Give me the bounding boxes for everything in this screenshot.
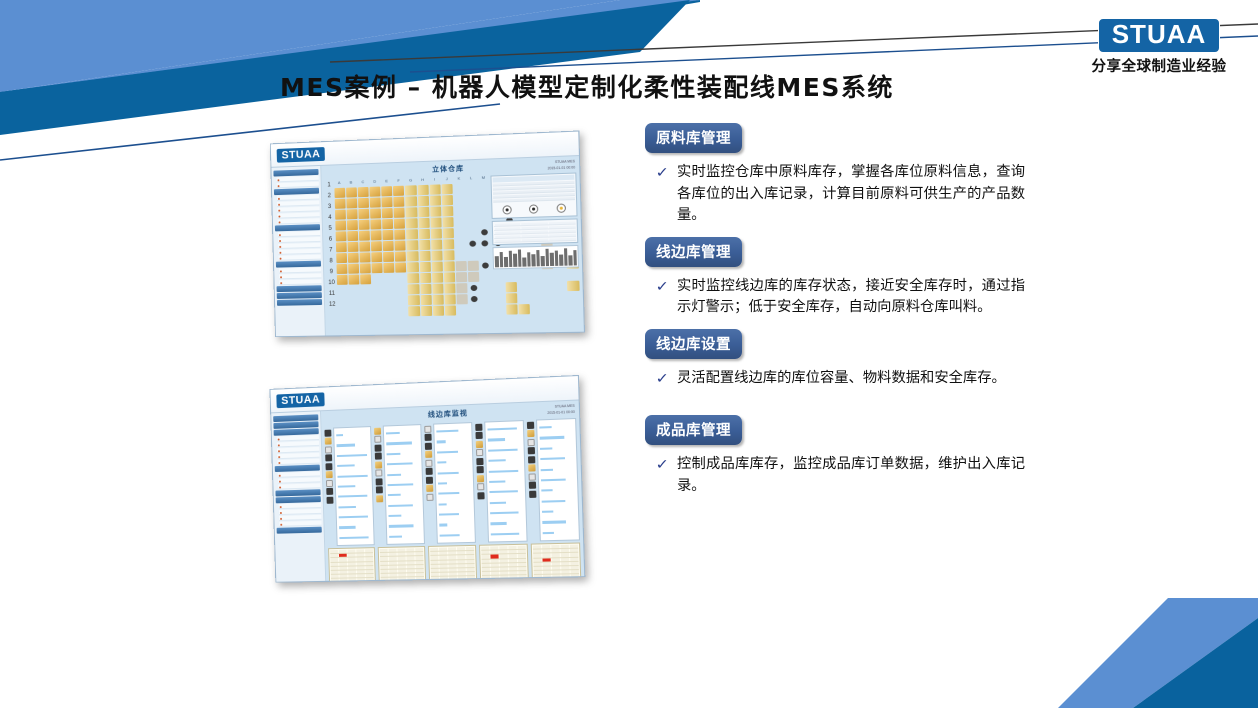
stock-bar-chart <box>433 422 476 544</box>
grid-cell[interactable] <box>382 197 393 207</box>
material-icon <box>376 495 383 502</box>
material-icon <box>475 423 482 430</box>
app-logo: STUAA <box>276 392 325 408</box>
grid-cell[interactable] <box>456 260 467 270</box>
grid-cell[interactable] <box>361 296 372 306</box>
material-icon <box>528 447 535 454</box>
check-icon: ✓ <box>656 276 679 319</box>
screenshot-line-side-warehouse: STUAA STUAA MES2015-01-01 00:00 <box>268 382 580 580</box>
bullet-row: ✓ 实时监控仓库中原料库存，掌握各库位原料信息，查询各库位的出入库记录，计算目前… <box>645 162 1025 227</box>
stock-table[interactable] <box>531 542 582 582</box>
material-icon <box>424 425 431 432</box>
line-side-column[interactable] <box>424 422 477 583</box>
line-side-columns[interactable] <box>324 416 581 583</box>
grid-cell[interactable] <box>433 305 444 315</box>
grid-cell[interactable] <box>347 252 358 262</box>
check-icon: ✓ <box>656 162 679 227</box>
grid-cell[interactable] <box>442 206 453 216</box>
grid-cell[interactable] <box>382 229 393 239</box>
grid-cell[interactable] <box>419 261 430 271</box>
section-badge-line-side-setup: 线边库设置 <box>645 329 742 359</box>
material-icon <box>425 442 432 449</box>
grid-cell[interactable] <box>369 186 380 196</box>
grid-cell[interactable] <box>457 294 468 304</box>
grid-cell[interactable] <box>346 209 357 219</box>
grid-cell[interactable] <box>359 241 370 251</box>
grid-cell[interactable] <box>568 303 580 313</box>
material-icon <box>477 483 484 490</box>
grid-cell[interactable] <box>443 228 454 238</box>
material-icon <box>425 451 432 458</box>
material-icon <box>324 429 331 436</box>
grid-cell[interactable] <box>468 260 480 270</box>
material-icon <box>326 479 333 486</box>
material-icon <box>527 438 534 445</box>
grid-cell[interactable] <box>373 306 384 316</box>
grid-cell[interactable] <box>418 217 429 227</box>
grid-cell[interactable] <box>454 183 465 193</box>
grid-cell[interactable] <box>395 262 406 272</box>
grid-cell[interactable] <box>406 207 417 217</box>
grid-row-label: 7 <box>326 245 335 256</box>
logo-badge: STUAA <box>1098 18 1221 53</box>
grid-cell[interactable] <box>469 304 481 314</box>
grid-cell[interactable] <box>468 249 479 259</box>
warehouse-grid-panel: STUAA MES2015-01-01 00:00 立体仓库 123456789… <box>321 156 584 335</box>
section-raw-material: 原料库管理 ✓ 实时监控仓库中原料库存，掌握各库位原料信息，查询各库位的出入库记… <box>645 123 1025 227</box>
material-icon <box>426 476 433 483</box>
grid-cell[interactable] <box>431 239 442 249</box>
grid-cell[interactable] <box>430 206 441 216</box>
material-icon <box>374 427 381 434</box>
stock-bar-chart <box>536 418 580 541</box>
app-logo: STUAA <box>277 147 326 163</box>
grid-cell[interactable] <box>372 284 383 294</box>
grid-cell[interactable] <box>466 183 477 193</box>
material-icon <box>325 438 332 445</box>
grid-cell[interactable] <box>359 252 370 262</box>
grid-cell[interactable] <box>385 306 396 316</box>
grid-cell[interactable] <box>405 196 416 206</box>
material-icon <box>375 461 382 468</box>
grid-cell[interactable] <box>482 240 489 246</box>
material-icon <box>325 454 332 461</box>
material-icon <box>376 478 383 485</box>
grid-row-label: 1 <box>325 180 334 191</box>
table-row[interactable] <box>534 574 579 579</box>
grid-cell[interactable] <box>419 250 430 260</box>
grid-column-header: A <box>333 180 345 187</box>
grid-cell[interactable] <box>567 280 579 290</box>
grid-cell[interactable] <box>518 292 530 302</box>
grid-cell[interactable] <box>335 242 346 252</box>
grid-cell[interactable] <box>371 263 382 273</box>
material-icon <box>376 486 383 493</box>
grid-cell[interactable] <box>371 252 382 262</box>
grid-cell[interactable] <box>360 263 371 273</box>
grid-cell[interactable] <box>371 241 382 251</box>
grid-cell[interactable] <box>347 230 358 240</box>
grid-cell[interactable] <box>531 303 543 313</box>
grid-cell[interactable] <box>493 282 505 292</box>
screenshot-raw-material-warehouse: STUAA STUAA MES2015-01-01 00:00 <box>268 137 580 335</box>
grid-cell[interactable] <box>348 285 359 295</box>
grid-cell[interactable] <box>348 274 359 284</box>
grid-cell[interactable] <box>395 240 406 250</box>
app-sidebar[interactable] <box>271 166 325 336</box>
grid-cell[interactable] <box>361 307 372 317</box>
grid-cell[interactable] <box>346 187 357 197</box>
grid-cell[interactable] <box>555 269 567 279</box>
grid-cell[interactable] <box>358 208 369 218</box>
grid-cell[interactable] <box>371 230 382 240</box>
grid-cell[interactable] <box>370 219 381 229</box>
grid-cell[interactable] <box>430 217 441 227</box>
grid-cell[interactable] <box>457 305 468 315</box>
line-side-column[interactable] <box>374 424 426 583</box>
grid-cell[interactable] <box>418 206 429 216</box>
bullet-text: 灵活配置线边库的库位容量、物料数据和安全库存。 <box>677 368 1006 390</box>
check-icon: ✓ <box>656 454 679 497</box>
records-table <box>492 218 579 245</box>
grid-cell[interactable] <box>456 272 467 282</box>
grid-cell[interactable] <box>394 196 405 206</box>
material-icon <box>425 434 432 441</box>
grid-cell[interactable] <box>530 292 542 302</box>
grid-cell[interactable] <box>468 271 480 281</box>
grid-cell[interactable] <box>481 229 488 235</box>
grid-cell[interactable] <box>347 241 358 251</box>
grid-cell[interactable] <box>396 284 407 294</box>
grid-cell[interactable] <box>543 292 555 302</box>
grid-cell[interactable] <box>466 194 477 204</box>
grid-column-header: F <box>393 178 405 185</box>
grid-cell[interactable] <box>568 291 580 301</box>
grid-cell[interactable] <box>408 295 419 305</box>
material-icon <box>326 471 333 478</box>
grid-cell[interactable] <box>444 294 455 304</box>
table-row[interactable] <box>482 575 527 580</box>
material-icon <box>527 421 534 428</box>
grid-cell[interactable] <box>471 284 478 290</box>
grid-cell[interactable] <box>481 293 493 303</box>
material-icon <box>528 456 535 463</box>
grid-cell[interactable] <box>360 285 371 295</box>
screen-watermark: STUAA MES2015-01-01 00:00 <box>547 158 575 171</box>
grid-cell[interactable] <box>493 293 505 303</box>
bullet-row: ✓ 灵活配置线边库的库位容量、物料数据和安全库存。 <box>645 368 1025 390</box>
grid-cell[interactable] <box>442 217 453 227</box>
grid-cell[interactable] <box>337 307 348 317</box>
grid-cell[interactable] <box>408 273 419 283</box>
grid-cell[interactable] <box>480 271 492 281</box>
grid-row-label: 2 <box>325 191 334 202</box>
grid-cell[interactable] <box>454 205 465 215</box>
table-row[interactable] <box>381 582 425 583</box>
grid-column-header: K <box>453 175 465 182</box>
grid-cell[interactable] <box>337 296 348 306</box>
grid-cell[interactable] <box>471 295 478 301</box>
grid-cell[interactable] <box>393 185 404 195</box>
info-panel <box>490 172 577 218</box>
table-row[interactable] <box>431 576 475 581</box>
grid-cell[interactable] <box>445 305 456 315</box>
grid-row-label: 12 <box>328 300 337 311</box>
grid-cell[interactable] <box>456 283 467 293</box>
stock-bar-chart <box>383 424 425 545</box>
bullet-row: ✓ 控制成品库库存，监控成品库订单数据，维护出入库记录。 <box>645 454 1025 497</box>
grid-cell[interactable] <box>384 284 395 294</box>
grid-cell[interactable] <box>372 295 383 305</box>
grid-cell[interactable] <box>454 194 465 204</box>
grid-cell[interactable] <box>407 262 418 272</box>
stock-table[interactable] <box>479 544 529 583</box>
grid-cell[interactable] <box>455 238 466 248</box>
grid-cell[interactable] <box>444 283 455 293</box>
grid-cell[interactable] <box>421 305 432 315</box>
grid-cell[interactable] <box>382 207 393 217</box>
grid-cell[interactable] <box>370 208 381 218</box>
line-side-column[interactable] <box>324 426 376 583</box>
grid-cell[interactable] <box>347 220 358 230</box>
grid-cell[interactable] <box>383 262 394 272</box>
grid-cell[interactable] <box>505 270 517 280</box>
grid-cell[interactable] <box>383 251 394 261</box>
grid-cell[interactable] <box>420 294 431 304</box>
grid-cell[interactable] <box>467 216 478 226</box>
section-badge-raw-material: 原料库管理 <box>645 123 742 153</box>
grid-cell[interactable] <box>455 249 466 259</box>
thin-diagonal-lines <box>0 0 1258 340</box>
grid-row-label: 3 <box>325 202 334 213</box>
bullet-text: 实时监控仓库中原料库存，掌握各库位原料信息，查询各库位的出入库记录，计算目前原料… <box>677 162 1025 227</box>
grid-cell[interactable] <box>480 249 492 259</box>
grid-cell[interactable] <box>335 231 346 241</box>
grid-cell[interactable] <box>407 240 418 250</box>
grid-cell[interactable] <box>431 250 442 260</box>
grid-column-header: B <box>345 179 357 186</box>
grid-column-header: G <box>404 177 416 184</box>
screen-watermark: STUAA MES2015-01-01 00:00 <box>547 403 575 416</box>
material-icon <box>425 459 432 466</box>
material-icon <box>426 485 433 492</box>
grid-cell[interactable] <box>482 262 489 268</box>
material-icon <box>477 466 484 473</box>
section-badge-finished-goods: 成品库管理 <box>645 415 742 445</box>
grid-cell[interactable] <box>530 281 542 291</box>
grid-cell[interactable] <box>493 271 505 281</box>
material-icon <box>529 490 536 497</box>
grid-cell[interactable] <box>530 270 542 280</box>
grid-cell[interactable] <box>407 251 418 261</box>
grid-cell[interactable] <box>418 228 429 238</box>
grid-cell[interactable] <box>417 184 428 194</box>
grid-cell[interactable] <box>360 274 371 284</box>
check-icon: ✓ <box>656 368 679 390</box>
table-row[interactable] <box>331 578 374 582</box>
grid-cell[interactable] <box>394 207 405 217</box>
grid-cell[interactable] <box>430 195 441 205</box>
grid-cell[interactable] <box>467 227 478 237</box>
grid-cell[interactable] <box>443 250 454 260</box>
grid-cell[interactable] <box>420 283 431 293</box>
grid-column-header: M <box>477 175 489 182</box>
grid-cell[interactable] <box>370 197 381 207</box>
stock-table[interactable] <box>428 545 477 583</box>
material-icon <box>326 488 333 495</box>
grid-cell[interactable] <box>518 304 530 314</box>
grid-cell[interactable] <box>394 218 405 228</box>
grid-cell[interactable] <box>408 284 419 294</box>
grid-row-label: 4 <box>325 213 334 224</box>
grid-cell[interactable] <box>506 293 518 303</box>
grid-cell[interactable] <box>518 281 530 291</box>
grid-cell[interactable] <box>556 303 568 313</box>
grid-cell[interactable] <box>381 186 392 196</box>
table-row[interactable] <box>381 577 425 582</box>
stock-table[interactable] <box>378 546 427 583</box>
bullet-row: ✓ 实时监控线边库的库存状态，接近安全库存时，通过指示灯警示；低于安全库存，自动… <box>645 276 1025 319</box>
grid-row-label: 10 <box>327 278 336 289</box>
grid-cell[interactable] <box>478 193 490 203</box>
grid-cell[interactable] <box>397 306 408 316</box>
feature-list: 原料库管理 ✓ 实时监控仓库中原料库存，掌握各库位原料信息，查询各库位的出入库记… <box>645 123 1025 503</box>
table-row[interactable] <box>534 579 579 583</box>
grid-cell[interactable] <box>336 253 347 263</box>
grid-cell[interactable] <box>505 282 517 292</box>
grid-cell[interactable] <box>555 292 567 302</box>
app-sidebar[interactable] <box>271 411 326 581</box>
stock-table[interactable] <box>328 547 376 583</box>
grid-cell[interactable] <box>346 198 357 208</box>
grid-row-label: 9 <box>327 267 336 278</box>
section-line-side-setup: 线边库设置 ✓ 灵活配置线边库的库位容量、物料数据和安全库存。 <box>645 329 1025 390</box>
grid-cell[interactable] <box>443 239 454 249</box>
detail-panels <box>490 172 579 269</box>
grid-cell[interactable] <box>396 295 407 305</box>
grid-cell[interactable] <box>442 195 453 205</box>
material-icon <box>477 475 484 482</box>
grid-cell[interactable] <box>358 219 369 229</box>
grid-column-header: D <box>369 179 381 186</box>
grid-cell[interactable] <box>337 285 348 295</box>
page-title: MES案例 – 机器人模型定制化柔性装配线MES系统 <box>280 68 894 104</box>
grid-cell[interactable] <box>494 304 506 314</box>
grid-row-label: 11 <box>327 289 336 300</box>
grid-cell[interactable] <box>506 304 518 314</box>
grid-cell[interactable] <box>395 251 406 261</box>
grid-cell[interactable] <box>470 240 477 246</box>
grid-cell[interactable] <box>396 273 407 283</box>
grid-cell[interactable] <box>383 240 394 250</box>
line-side-panel: STUAA MES2015-01-01 00:00 线边库监视 <box>321 401 584 581</box>
section-finished-goods: 成品库管理 ✓ 控制成品库库存，监控成品库订单数据，维护出入库记录。 <box>645 415 1025 497</box>
grid-cell[interactable] <box>406 218 417 228</box>
grid-cell[interactable] <box>405 185 416 195</box>
grid-row-label: 5 <box>326 224 335 235</box>
grid-cell[interactable] <box>432 294 443 304</box>
grid-cell[interactable] <box>349 307 360 317</box>
grid-cell[interactable] <box>481 282 493 292</box>
grid-cell[interactable] <box>336 263 347 273</box>
bar-chart <box>492 245 579 269</box>
grid-cell[interactable] <box>418 195 429 205</box>
grid-cell[interactable] <box>384 295 395 305</box>
grid-cell[interactable] <box>479 204 491 214</box>
line-side-column[interactable] <box>527 418 582 583</box>
grid-cell[interactable] <box>567 269 579 279</box>
material-icon <box>529 482 536 489</box>
grid-cell[interactable] <box>348 263 359 273</box>
grid-cell[interactable] <box>406 229 417 239</box>
grid-cell[interactable] <box>358 186 369 196</box>
grid-cell[interactable] <box>382 218 393 228</box>
grid-cell[interactable] <box>334 209 345 219</box>
grid-cell[interactable] <box>454 216 465 226</box>
grid-cell[interactable] <box>481 304 493 314</box>
grid-cell[interactable] <box>349 296 360 306</box>
grid-cell[interactable] <box>478 182 490 192</box>
grid-cell[interactable] <box>384 273 395 283</box>
material-icon <box>375 444 382 451</box>
grid-cell[interactable] <box>517 270 529 280</box>
stock-bar-chart <box>484 420 527 543</box>
grid-cell[interactable] <box>394 229 405 239</box>
grid-cell[interactable] <box>542 270 554 280</box>
grid-cell[interactable] <box>432 272 443 282</box>
grid-cell[interactable] <box>430 228 441 238</box>
grid-cell[interactable] <box>429 184 440 194</box>
grid-cell[interactable] <box>543 303 555 313</box>
grid-cell[interactable] <box>431 261 442 271</box>
grid-cell[interactable] <box>336 274 347 284</box>
material-icon <box>375 469 382 476</box>
grid-cell[interactable] <box>358 197 369 207</box>
material-icon <box>326 496 333 503</box>
grid-cell[interactable] <box>335 220 346 230</box>
material-icon <box>477 492 484 499</box>
grid-column-header: H <box>417 177 429 184</box>
grid-cell[interactable] <box>441 183 452 193</box>
material-icon <box>476 440 483 447</box>
grid-cell[interactable] <box>419 239 430 249</box>
bottom-right-decorative-bands <box>918 598 1258 708</box>
grid-cell[interactable] <box>334 187 345 197</box>
grid-column-header: E <box>381 178 393 185</box>
grid-cell[interactable] <box>432 283 443 293</box>
material-icon <box>325 463 332 470</box>
table-row[interactable] <box>431 581 475 583</box>
table-row[interactable] <box>482 580 527 583</box>
material-icon <box>475 432 482 439</box>
grid-cell[interactable] <box>455 227 466 237</box>
grid-cell[interactable] <box>444 261 455 271</box>
grid-cell[interactable] <box>372 273 383 283</box>
grid-cell[interactable] <box>359 230 370 240</box>
grid-cell[interactable] <box>420 272 431 282</box>
grid-cell[interactable] <box>409 306 420 316</box>
grid-cell[interactable] <box>555 280 567 290</box>
grid-row-label: 8 <box>327 256 336 267</box>
grid-cell[interactable] <box>466 205 477 215</box>
grid-cell[interactable] <box>542 281 554 291</box>
grid-cell[interactable] <box>444 272 455 282</box>
grid-cell[interactable] <box>479 215 491 225</box>
grid-cell[interactable] <box>334 198 345 208</box>
material-icon <box>325 446 332 453</box>
line-side-column[interactable] <box>475 420 529 583</box>
material-icon <box>476 457 483 464</box>
